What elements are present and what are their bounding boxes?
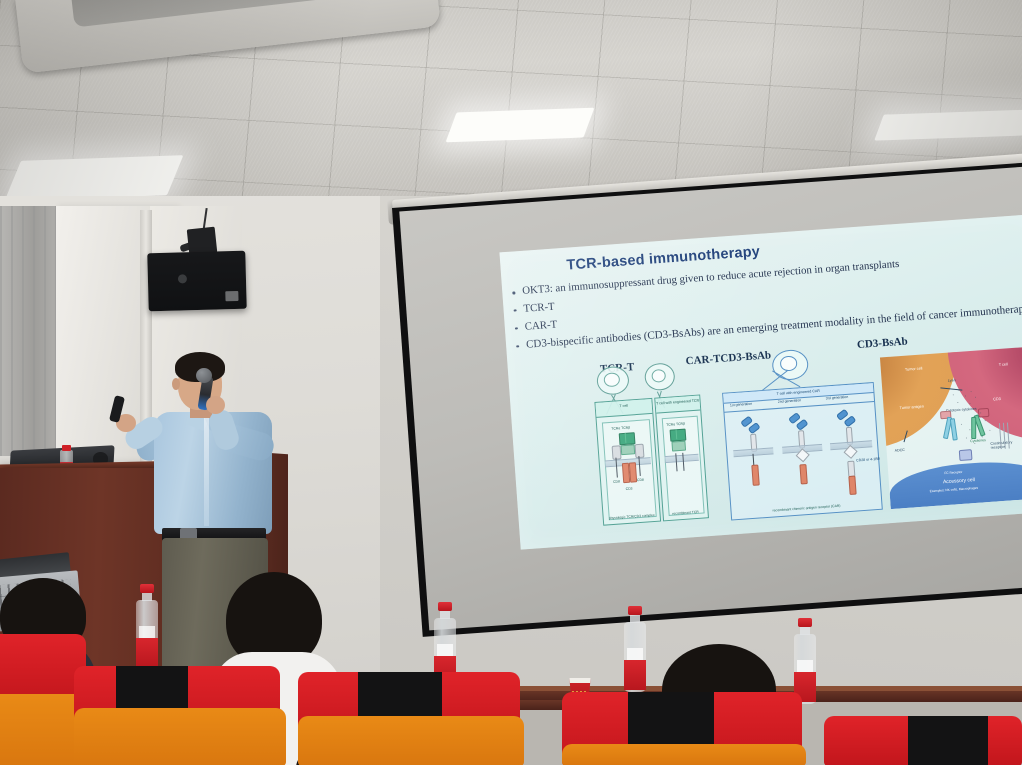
cd3-zeta-domain-icon (799, 464, 807, 484)
cd3-label: CD3 (993, 397, 1001, 402)
bsab-arm-right (971, 417, 976, 439)
presenter-ear (172, 378, 180, 390)
cd3-zeta-domain-icon (751, 464, 759, 485)
car-costim-label: CD28 or 4-1BB (856, 457, 880, 463)
lysis-label: Lysis (948, 378, 956, 383)
diagram-panel-tcr-t: T cell TCRα TCRβ CD8 CD8 CD3 (594, 388, 713, 526)
shirt-placket (204, 414, 209, 526)
bottle-label (136, 638, 158, 668)
tcr-constant-region-icon (671, 441, 686, 452)
box-caption: T cell (595, 399, 652, 418)
cd3-zeta-domain-icon (848, 476, 856, 495)
seat-wood-back (562, 744, 806, 765)
seat-backrest (824, 716, 1022, 765)
nucleus-icon (603, 372, 620, 387)
car-generation-label: 3rd generation (826, 395, 849, 401)
speaker-driver-icon (178, 274, 187, 283)
tcr-t-box-engineered: T cell with engineered TCR TCRα TCRβ rec… (654, 394, 709, 521)
cd3-zeta-icon (629, 462, 637, 482)
car-generation-label: 2nd generation (778, 398, 802, 404)
window-curtain (0, 206, 62, 456)
tcr-constant-region-icon (621, 444, 636, 455)
cd8-label: CD8 (613, 479, 620, 483)
seat-stripe (908, 716, 988, 765)
panel-heading-cd3-bsab: CD3-BsAb (857, 335, 908, 351)
seat-wood-back (74, 708, 286, 765)
seat-wood-back (298, 716, 524, 765)
cup-rim (567, 678, 593, 683)
lecture-hall-photo: TCR-based immunotherapy OKT3: an immunos… (0, 0, 1022, 765)
projected-slide: TCR-based immunotherapy OKT3: an immunos… (499, 214, 1022, 550)
microphone-grille-icon (196, 368, 212, 383)
car-t-box: T cell with engineered CAR 1st generatio… (722, 382, 883, 521)
costimulatory-receptors-label: Costimulatory receptors (990, 440, 1022, 451)
t-cell-label: T cell (999, 362, 1008, 367)
car-generation-label: 1st generation (730, 402, 752, 408)
bottle-label (624, 660, 646, 690)
cd8-label: CD8 (637, 478, 644, 482)
bottle-cap-icon (62, 445, 71, 451)
nucleus-icon (651, 368, 667, 383)
water-bottle (624, 622, 646, 692)
bottle-cap-icon (628, 606, 642, 615)
scfv-domain-icon (843, 415, 856, 427)
diagram-panel-car-tcd3-bsab: T cell with engineered CAR 1st generatio… (722, 376, 881, 518)
adcc-label: ADCC (894, 448, 904, 453)
speaker-badge (225, 291, 238, 301)
box-note: recombinant chimeric antigen receptor (C… (732, 501, 882, 516)
scfv-domain-icon (748, 422, 761, 434)
box-caption: T cell with engineered TCR (655, 396, 700, 414)
t-cell-bulb-icon (771, 349, 809, 381)
t-cell-bulb-icon (596, 366, 630, 396)
water-bottle (136, 600, 158, 670)
diagram-panel-cd3-bsab: Tumor cell T cell Lysis Tumor antigen Cy… (880, 346, 1022, 509)
cd3-label: CD3 (626, 487, 633, 491)
panel-heading-car-tcd3: CAR-TCD3-BsAb (685, 349, 771, 367)
projection-screen: TCR-based immunotherapy OKT3: an immunos… (392, 162, 1022, 637)
bottle-cap-icon (798, 618, 812, 627)
costim-domain-secondary-icon (847, 461, 855, 477)
presenter-right-hand (206, 396, 225, 414)
scfv-domain-icon (796, 419, 809, 431)
cd3-subunit-icon (635, 444, 645, 459)
tcr-t-box-native: T cell TCRα TCRβ CD8 CD8 CD3 (594, 398, 661, 526)
wall-speaker (147, 251, 246, 312)
bottle-cap-icon (438, 602, 452, 611)
t-cell-shape (947, 346, 1022, 447)
t-cell-bulb-icon (644, 362, 676, 391)
bsab-arm-left (950, 418, 958, 440)
bottle-cap-icon (140, 584, 154, 593)
bsab-fc-region-icon (959, 449, 973, 461)
nucleus-icon (779, 355, 798, 371)
